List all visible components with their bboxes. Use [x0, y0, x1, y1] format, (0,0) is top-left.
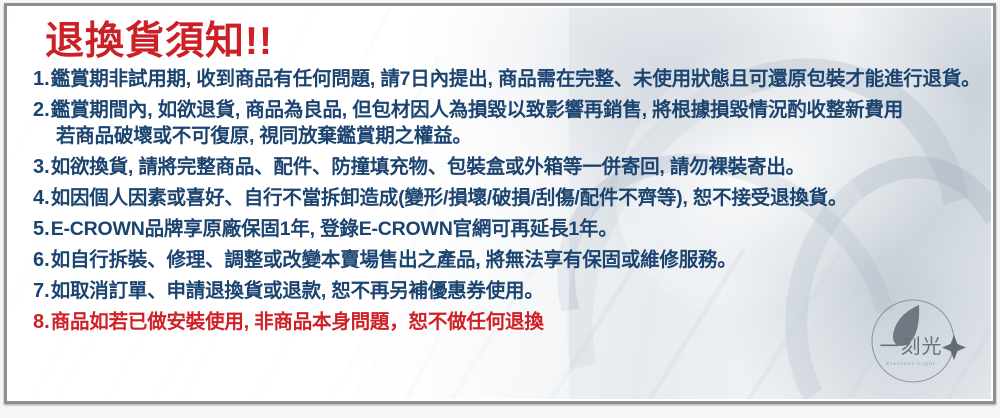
policy-rule-item: 7. 如取消訂單、申請退換貨或退款, 恕不再另補優惠券使用。 [33, 281, 973, 302]
policy-rule-item-highlighted: 8. 商品如若已做安裝使用, 非商品本身問題，恕不做任何退換 [33, 312, 973, 333]
policy-rule-item: 5. E-CROWN品牌享原廠保固1年, 登錄E-CROWN官網可再延長1年。 [33, 219, 973, 240]
rule-number: 6. [33, 250, 50, 270]
policy-rule-item: 4. 如因個人因素或喜好、自行不當拆卸造成(變形/損壞/破損/刮傷/配件不齊等)… [33, 188, 973, 209]
rule-text: 鑑賞期間內, 如欲退貨, 商品為良品, 但包材因人為損毀以致影響再銷售, 將根據… [51, 101, 903, 121]
rule-number: 8. [33, 312, 50, 332]
policy-content: 退換貨須知!! 1. 鑑賞期非試用期, 收到商品有任何問題, 請7日內提出, 商… [9, 8, 991, 332]
rule-number: 5. [33, 219, 50, 239]
logo-tagline: Precious Light [886, 361, 936, 367]
rule-text-continuation: 若商品破壞或不可復原, 視同放棄鑑賞期之權益。 [56, 127, 973, 147]
rule-number: 2. [33, 100, 50, 120]
rule-text: 如取消訂單、申請退換貨或退款, 恕不再另補優惠券使用。 [51, 282, 544, 302]
rule-text: 如因個人因素或喜好、自行不當拆卸造成(變形/損壞/破損/刮傷/配件不齊等), 恕… [51, 189, 848, 209]
banner-frame: 退換貨須知!! 1. 鑑賞期非試用期, 收到商品有任何問題, 請7日內提出, 商… [4, 3, 996, 404]
policy-rule-item: 2. 鑑賞期間內, 如欲退貨, 商品為良品, 但包材因人為損毀以致影響再銷售, … [33, 100, 973, 121]
sparkle-icon [942, 335, 966, 360]
logo-name: 一刻光 [880, 335, 943, 358]
rule-text: 如自行拆裝、修理、調整或改變本賣場售出之產品, 將無法享有保固或維修服務。 [51, 251, 737, 271]
rule-text: E-CROWN品牌享原廠保固1年, 登錄E-CROWN官網可再延長1年。 [51, 220, 618, 240]
rule-text: 如欲換貨, 請將完整商品、配件、防撞填充物、包裝盒或外箱等一併寄回, 請勿裸裝寄… [51, 158, 805, 178]
return-policy-banner: 退換貨須知!! 1. 鑑賞期非試用期, 收到商品有任何問題, 請7日內提出, 商… [0, 0, 1000, 418]
policy-rule-item: 6. 如自行拆裝、修理、調整或改變本賣場售出之產品, 將無法享有保固或維修服務。 [33, 250, 973, 271]
policy-rule-item: 1. 鑑賞期非試用期, 收到商品有任何問題, 請7日內提出, 商品需在完整、未使… [33, 69, 973, 90]
page-title: 退換貨須知!! [45, 22, 973, 63]
brand-logo: 一刻光 Precious Light [857, 291, 975, 387]
policy-rule-item: 3. 如欲換貨, 請將完整商品、配件、防撞填充物、包裝盒或外箱等一併寄回, 請勿… [33, 157, 973, 178]
rule-text: 鑑賞期非試用期, 收到商品有任何問題, 請7日內提出, 商品需在完整、未使用狀態… [51, 70, 981, 90]
rule-number: 4. [33, 188, 50, 208]
policy-rule-list: 1. 鑑賞期非試用期, 收到商品有任何問題, 請7日內提出, 商品需在完整、未使… [33, 69, 973, 333]
rule-text: 商品如若已做安裝使用, 非商品本身問題，恕不做任何退換 [51, 313, 544, 333]
rule-number: 1. [33, 69, 50, 89]
rule-number: 3. [33, 157, 50, 177]
banner-frame-inner: 退換貨須知!! 1. 鑑賞期非試用期, 收到商品有任何問題, 請7日內提出, 商… [7, 6, 993, 401]
rule-number: 7. [33, 281, 50, 301]
